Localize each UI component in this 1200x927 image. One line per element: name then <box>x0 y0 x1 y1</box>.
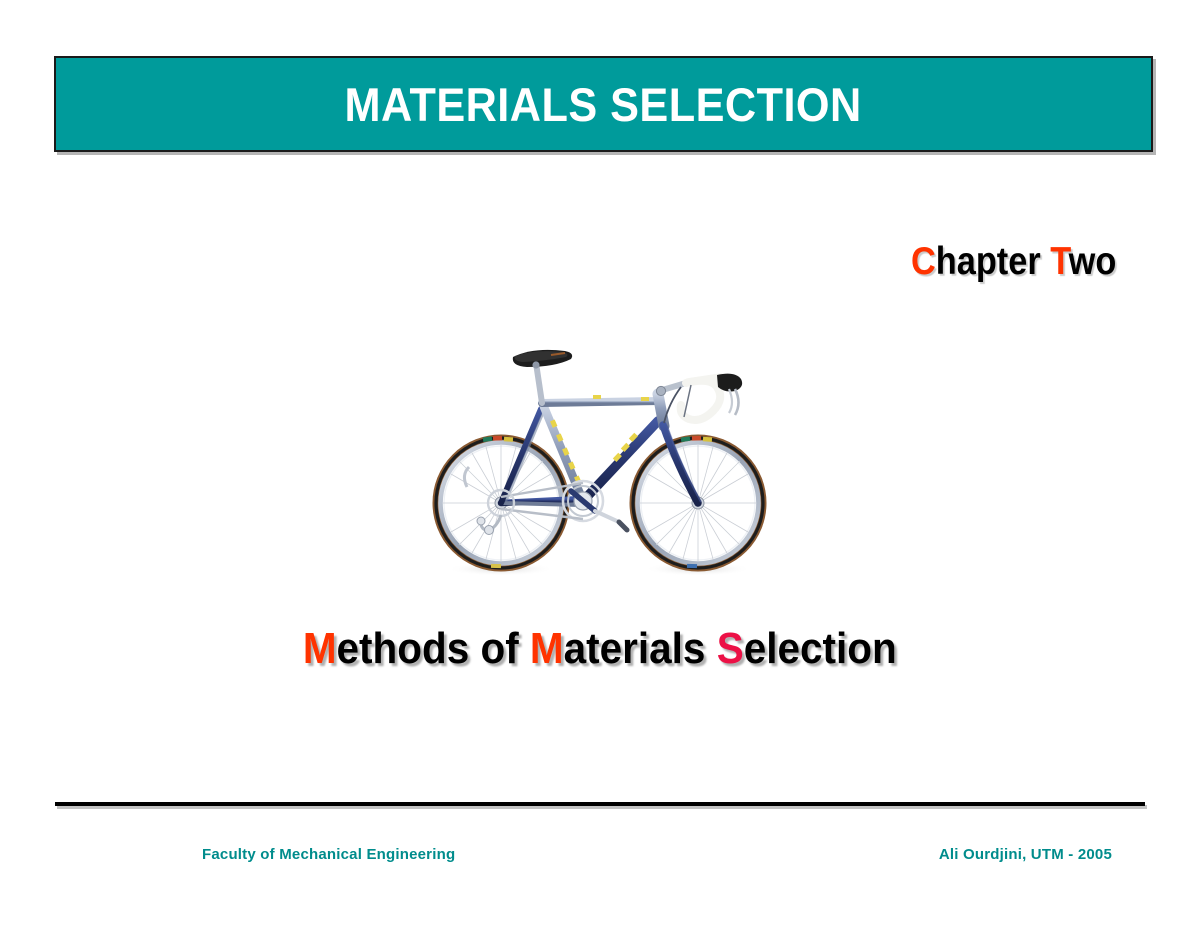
subtitle-segment-one: ethods of <box>337 624 530 673</box>
footer-author-label: Ali Ourdjini, UTM - 2005 <box>939 846 1112 863</box>
chapter-word-one: hapter <box>935 240 1049 283</box>
chapter-word-two: wo <box>1068 240 1116 283</box>
slide-subtitle: Methods of Materials Selection <box>0 624 1200 674</box>
subtitle-accent-s: S <box>717 624 744 673</box>
handlebar-assembly <box>656 374 742 423</box>
chapter-label: Chapter Two <box>911 240 1116 284</box>
presentation-slide: MATERIALS SELECTION Chapter Two <box>0 0 1200 927</box>
road-bicycle-photo <box>405 325 795 580</box>
frame-decals <box>550 395 649 484</box>
footer-divider <box>55 802 1145 806</box>
footer-faculty-label: Faculty of Mechanical Engineering <box>202 846 455 863</box>
subtitle-segment-three: election <box>744 624 897 673</box>
slide-title-banner: MATERIALS SELECTION <box>54 56 1153 152</box>
chapter-initial-c: C <box>911 240 936 283</box>
subtitle-accent-m1: M <box>303 624 337 673</box>
subtitle-segment-two: aterials <box>564 624 717 673</box>
page-title: MATERIALS SELECTION <box>345 81 862 128</box>
chapter-initial-t: T <box>1050 240 1068 283</box>
slide-footer: Faculty of Mechanical Engineering Ali Ou… <box>0 846 1200 870</box>
subtitle-accent-m2: M <box>530 624 564 673</box>
saddle-assembly <box>513 350 572 403</box>
